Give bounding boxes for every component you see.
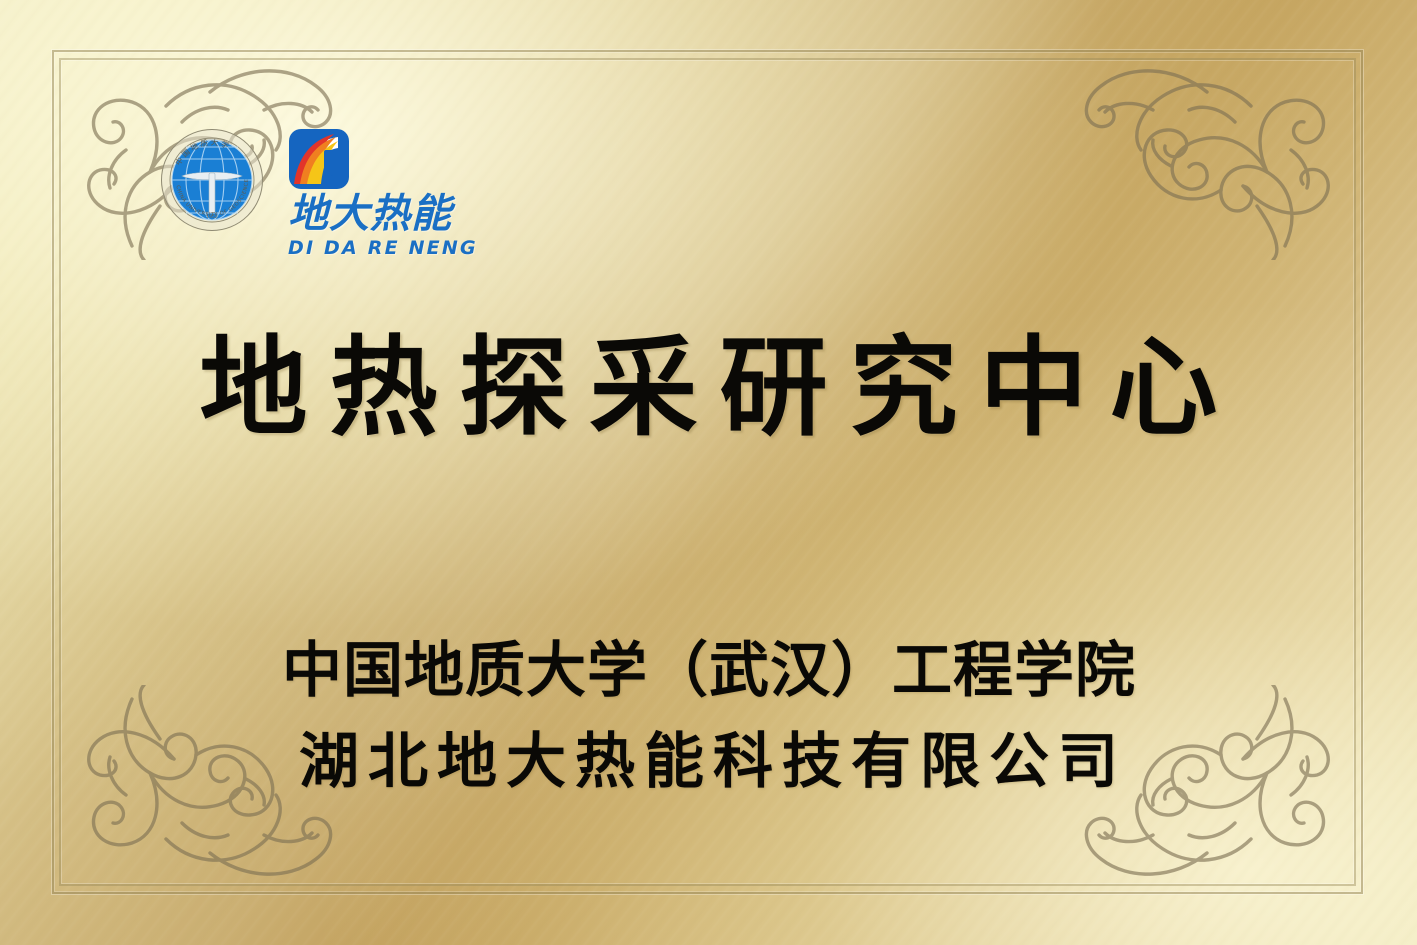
subtitle-line-university: 中国地质大学（武汉）工程学院 <box>0 626 1417 717</box>
plaque-subtitle: 中国地质大学（武汉）工程学院 湖北地大热能科技有限公司 <box>0 626 1417 808</box>
didareneng-mark-icon <box>288 128 350 190</box>
didareneng-logo: 地大热能 DI DA RE NENG <box>288 128 478 258</box>
logo-row: 中国地质大学 CHINA UNIVERSITY OF GEOSCIENCES 1… <box>160 128 478 258</box>
svg-text:1952: 1952 <box>206 214 218 220</box>
didareneng-wordmark-en: DI DA RE NENG <box>288 239 478 258</box>
corner-filigree-top-right <box>1083 10 1403 260</box>
plaque-title: 地热探采研究中心 <box>0 330 1417 449</box>
didareneng-wordmark-cn: 地大热能 <box>288 194 478 234</box>
china-university-of-geosciences-seal-icon: 中国地质大学 CHINA UNIVERSITY OF GEOSCIENCES 1… <box>160 128 264 232</box>
award-plaque: 中国地质大学 CHINA UNIVERSITY OF GEOSCIENCES 1… <box>0 0 1417 945</box>
subtitle-line-company: 湖北地大热能科技有限公司 <box>0 717 1417 808</box>
